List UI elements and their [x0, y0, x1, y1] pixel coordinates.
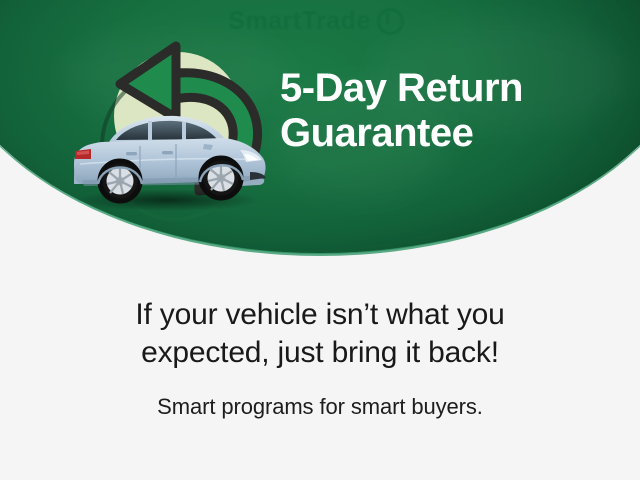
lede-line-1: If your vehicle isn’t what you [0, 296, 640, 334]
lede-line-2: expected, just bring it back! [0, 334, 640, 372]
watermark-logo-text: SmartTrade [228, 7, 371, 36]
headline: 5-Day Return Guarantee [280, 66, 610, 156]
sedan-car-icon [64, 102, 272, 212]
watermark-logo: SmartTrade [196, 4, 436, 38]
body-copy: If your vehicle isn’t what you expected,… [0, 296, 640, 420]
headline-line-2: Guarantee [280, 111, 610, 156]
promo-banner: SmartTrade [0, 0, 640, 480]
lede-text: If your vehicle isn’t what you expected,… [0, 296, 640, 372]
return-guarantee-artwork [58, 34, 288, 224]
tagline-text: Smart programs for smart buyers. [0, 394, 640, 420]
headline-line-1: 5-Day Return [280, 66, 610, 111]
trademark-badge-icon [377, 8, 404, 35]
